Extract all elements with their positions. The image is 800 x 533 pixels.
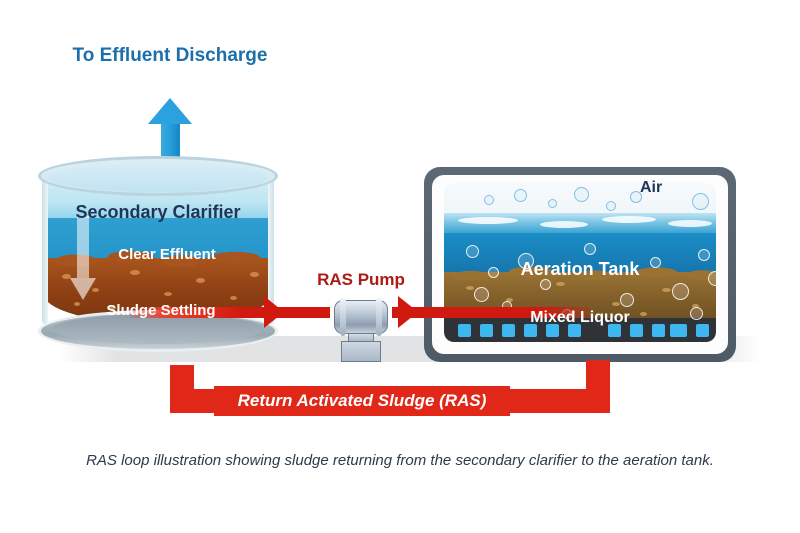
diagram-canvas: To Effluent Discharge <box>0 0 800 533</box>
mixed-liquor-label: Mixed Liquor <box>424 309 736 327</box>
air-label: Air <box>640 179 662 197</box>
ras-loop-label: Return Activated Sludge (RAS) <box>238 391 487 411</box>
air-bubble <box>574 187 589 202</box>
ras-pump-label: RAS Pump <box>296 270 426 290</box>
secondary-clarifier-tank: Secondary Clarifier Clear Effluent Sludg… <box>38 150 278 362</box>
ras-loop-right-bend <box>562 360 610 413</box>
air-bubble <box>692 193 709 210</box>
air-bubble <box>620 293 634 307</box>
effluent-discharge-label: To Effluent Discharge <box>35 44 305 68</box>
air-bubble <box>484 195 494 205</box>
air-bubble <box>466 245 479 258</box>
ras-flow-arrowhead <box>398 296 418 328</box>
air-bubble <box>474 287 489 302</box>
air-bubble <box>672 283 689 300</box>
clarifier-clear-effluent-label: Clear Effluent <box>56 246 278 263</box>
clarifier-sludge-settling-label: Sludge Settling <box>50 302 272 319</box>
aeration-tank-title: Aeration Tank <box>424 259 736 280</box>
air-bubble <box>606 201 616 211</box>
clarifier-rim-inner <box>48 162 268 192</box>
air-bubble <box>514 189 527 202</box>
clarifier-title: Secondary Clarifier <box>38 202 278 223</box>
air-bubble <box>540 279 551 290</box>
clarifier-wall-left <box>42 176 48 324</box>
ras-pump-icon <box>330 296 392 362</box>
air-bubble <box>584 243 596 255</box>
ras-loop-label-band: Return Activated Sludge (RAS) <box>214 386 510 416</box>
figure-caption: RAS loop illustration showing sludge ret… <box>0 452 800 469</box>
aeration-tank: Air Aeration Tank Mixed Liquor <box>424 167 736 362</box>
aeration-water-surface <box>444 213 716 235</box>
air-bubble <box>548 199 557 208</box>
